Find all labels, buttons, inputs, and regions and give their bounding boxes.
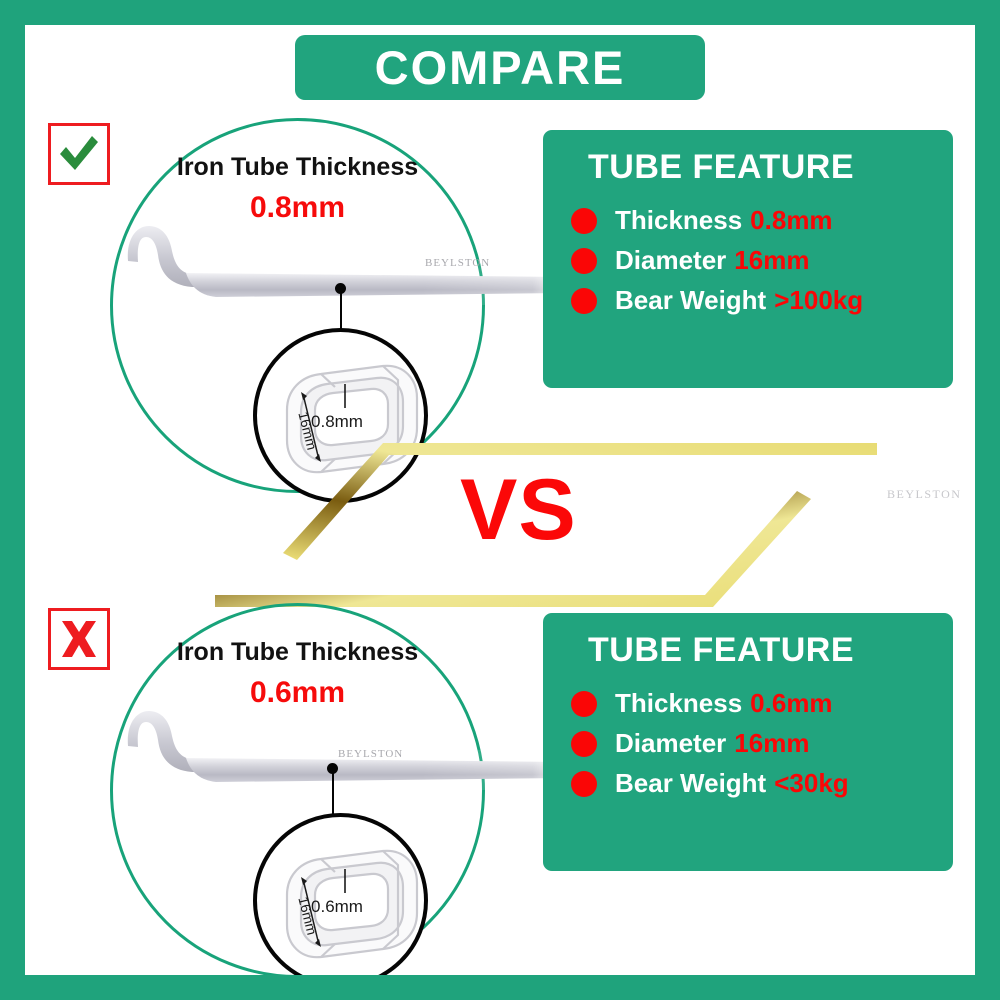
feature-label: Thickness <box>615 688 742 719</box>
magnifier-bad: 0.6mm 16mm <box>253 813 428 988</box>
circle-caption-title-good: Iron Tube Thickness <box>110 155 485 180</box>
feature-panel-title-bad: TUBE FEATURE <box>588 631 953 670</box>
leader-line-bad <box>332 770 334 818</box>
feature-item: Diameter 16mm <box>543 728 953 759</box>
feature-panel-good: TUBE FEATURE Thickness 0.8mm Diameter 16… <box>543 130 953 388</box>
feature-item: Bear Weight >100kg <box>543 285 953 316</box>
bullet-icon <box>571 691 597 717</box>
feature-item: Thickness 0.6mm <box>543 688 953 719</box>
feature-list-bad: Thickness 0.6mm Diameter 16mm Bear Weigh… <box>543 688 953 799</box>
bullet-icon <box>571 731 597 757</box>
feature-item: Thickness 0.8mm <box>543 205 953 236</box>
feature-list-good: Thickness 0.8mm Diameter 16mm Bear Weigh… <box>543 205 953 316</box>
feature-item: Diameter 16mm <box>543 245 953 276</box>
infographic-page: COMPARE Iron Tube Thickness 0.8mm <box>0 0 1000 1000</box>
compare-title: COMPARE <box>375 44 626 91</box>
verdict-badge-bad <box>48 608 110 670</box>
tube-rod-illustration-bad <box>120 700 570 790</box>
feature-label: Diameter <box>615 728 726 759</box>
feature-value: 0.8mm <box>750 205 832 236</box>
tube-cross-section-bad: 0.6mm 16mm <box>257 817 424 984</box>
check-icon <box>57 134 101 174</box>
feature-value: 16mm <box>734 728 809 759</box>
feature-label: Bear Weight <box>615 285 766 316</box>
content-canvas: COMPARE Iron Tube Thickness 0.8mm <box>25 25 975 975</box>
feature-label: Diameter <box>615 245 726 276</box>
side-watermark: BEYLSTON <box>887 487 961 502</box>
cross-icon <box>58 618 100 660</box>
rod-watermark-bad: BEYLSTON <box>338 748 403 760</box>
compare-banner: COMPARE <box>295 35 705 100</box>
feature-panel-title-good: TUBE FEATURE <box>588 148 953 187</box>
vs-divider: VS <box>205 425 885 615</box>
magnifier-thickness-label-bad: 0.6mm <box>311 897 363 916</box>
feature-value: 0.6mm <box>750 688 832 719</box>
feature-value: <30kg <box>774 768 848 799</box>
bullet-icon <box>571 208 597 234</box>
vs-label: VS <box>460 467 577 553</box>
feature-item: Bear Weight <30kg <box>543 768 953 799</box>
feature-panel-bad: TUBE FEATURE Thickness 0.6mm Diameter 16… <box>543 613 953 871</box>
feature-label: Bear Weight <box>615 768 766 799</box>
verdict-badge-good <box>48 123 110 185</box>
bullet-icon <box>571 771 597 797</box>
feature-value: 16mm <box>734 245 809 276</box>
rod-watermark-good: BEYLSTON <box>425 257 490 269</box>
bullet-icon <box>571 248 597 274</box>
circle-caption-title-bad: Iron Tube Thickness <box>110 640 485 665</box>
feature-label: Thickness <box>615 205 742 236</box>
leader-line-good <box>340 290 342 332</box>
bullet-icon <box>571 288 597 314</box>
feature-value: >100kg <box>774 285 863 316</box>
